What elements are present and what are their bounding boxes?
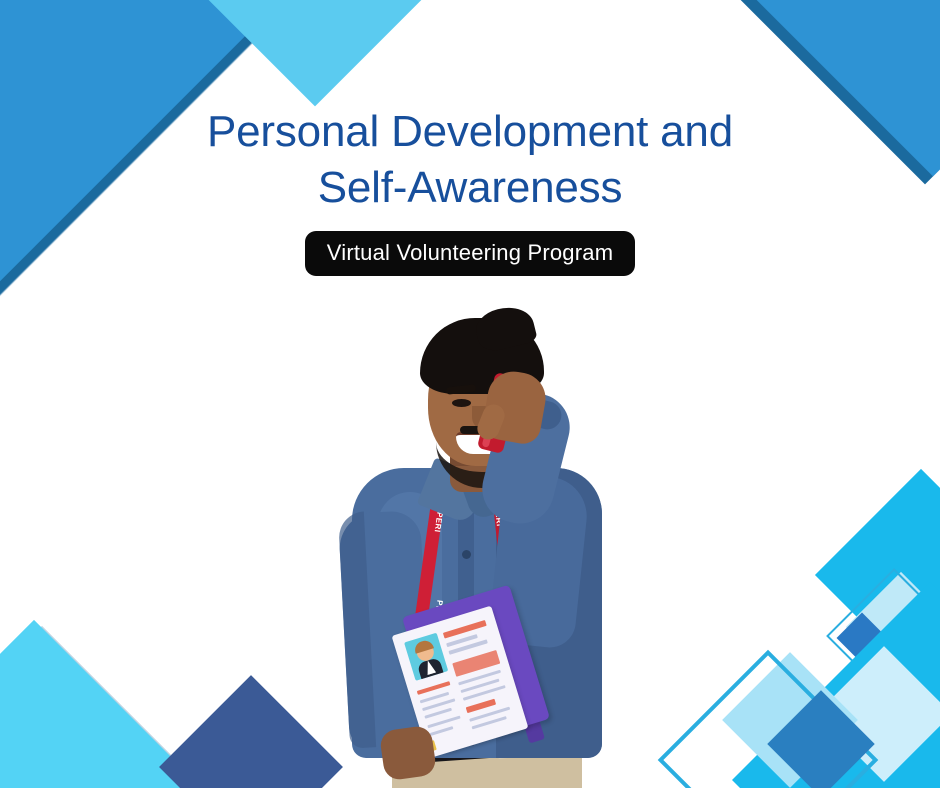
program-badge: Virtual Volunteering Program — [305, 231, 635, 276]
shirt-button — [462, 550, 471, 559]
resume-name-bar — [443, 620, 487, 639]
page-title: Personal Development and Self-Awareness — [0, 104, 940, 217]
page-title-line-2: Self-Awareness — [0, 160, 940, 216]
subtitle-badge-wrapper: Virtual Volunteering Program — [0, 231, 940, 276]
poster-canvas: Personal Development and Self-Awareness … — [0, 0, 940, 788]
resume-text-bar — [430, 726, 454, 736]
resume-avatar-photo — [404, 633, 448, 681]
left-hand — [379, 725, 437, 782]
resume-text-bar — [427, 716, 460, 729]
page-title-line-1: Personal Development and — [0, 104, 940, 160]
subject-photo: PERI PERI PERI PERI — [300, 300, 640, 788]
eye-left — [452, 399, 471, 407]
